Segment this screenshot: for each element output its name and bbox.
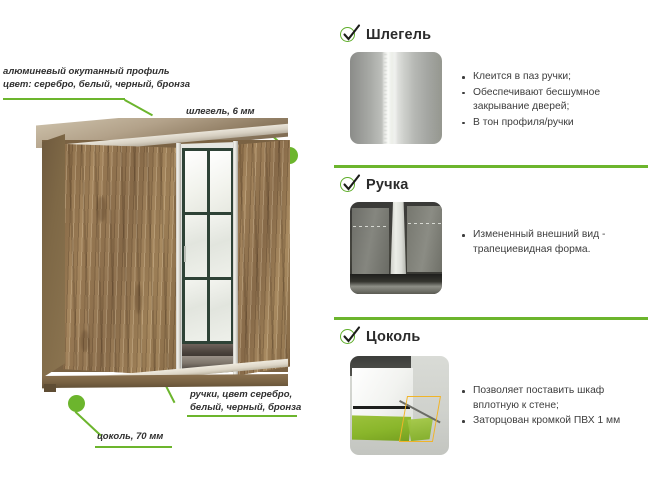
annotation-profile-leader (124, 99, 153, 116)
feature-bullets-shlegel: Клеится в паз ручки; Обеспечивают бесшум… (462, 70, 652, 131)
annotation-plinth-underline (95, 446, 172, 448)
wardrobe-handle-right (233, 141, 238, 376)
feature-panel-shlegel: Шлегель Клеится в паз ручки; Обеспечиваю… (330, 22, 652, 168)
annotation-profile-label: алюминевый окутанный профиль цвет: сереб… (3, 66, 190, 91)
check-circle-icon (340, 177, 357, 194)
list-item: Позволяет поставить шкаф вплотную к стен… (462, 384, 652, 413)
annotation-plinth-line1: цоколь, 70 мм (97, 431, 163, 444)
annotation-profile-line2: цвет: серебро, белый, черный, бронза (3, 79, 190, 92)
annotation-handles-underline (187, 415, 297, 417)
mirror-pane (210, 215, 232, 276)
wardrobe-illustration-pane: алюминевый окутанный профиль цвет: сереб… (0, 0, 330, 500)
annotation-handles-label: ручки, цвет серебро, белый, черный, брон… (190, 389, 301, 414)
annotation-plinth-dot (68, 395, 85, 412)
list-item: Заторцован кромкой ПВХ 1 мм (462, 414, 652, 429)
mirror-door-handle (184, 246, 186, 262)
features-pane: Шлегель Клеится в паз ручки; Обеспечиваю… (330, 0, 652, 500)
annotation-plinth-label: цоколь, 70 мм (97, 431, 163, 444)
feature-heading-shlegel: Шлегель (340, 22, 431, 48)
wardrobe-right-door (234, 140, 290, 376)
list-item: Обеспечивают бесшумное закрывание дверей… (462, 86, 652, 115)
annotation-profile-underline (3, 98, 125, 100)
wardrobe-plinth-foot (44, 384, 56, 392)
list-item: Клеится в паз ручки; (462, 70, 652, 85)
slide-canvas: алюминевый окутанный профиль цвет: сереб… (0, 0, 652, 500)
wardrobe-graphic (36, 118, 288, 390)
check-circle-icon (340, 329, 357, 346)
feature-title: Шлегель (366, 27, 431, 43)
list-item: В тон профиля/ручки (462, 116, 652, 131)
mirror-pane (210, 151, 232, 212)
mirror-panes (182, 148, 234, 344)
feature-title: Цоколь (366, 329, 421, 345)
annotation-shlegel-line1: шлегель, 6 мм (186, 106, 255, 119)
annotation-shlegel-label: шлегель, 6 мм (186, 106, 255, 119)
list-item: Измененный внешний вид - трапециевидная … (462, 228, 652, 257)
mirror-pane (185, 215, 207, 276)
wardrobe-handle-left (176, 143, 181, 377)
feature-panel-ruchka: Ручка Измененный внешний вид - трапециев… (330, 172, 652, 320)
mirror-pane (185, 151, 207, 212)
feature-bullets-cokol: Позволяет поставить шкаф вплотную к стен… (462, 384, 652, 430)
annotation-handles-line1: ручки, цвет серебро, (190, 389, 301, 402)
check-circle-icon (340, 27, 357, 44)
wardrobe-side-panel (42, 134, 65, 378)
wardrobe-mirror-door (179, 142, 237, 376)
mirror-pane (210, 280, 232, 341)
wardrobe-plinth (42, 374, 288, 388)
feature-panel-cokol: Цоколь Позволяет поставить шкаф вплотную… (330, 324, 652, 484)
section-divider (334, 165, 648, 168)
shlegel-photo (350, 52, 442, 144)
annotation-profile-line1: алюминевый окутанный профиль (3, 66, 190, 79)
plinth-photo (350, 356, 449, 455)
mirror-pane (185, 280, 207, 341)
feature-bullets-ruchka: Измененный внешний вид - трапециевидная … (462, 228, 652, 258)
mirror-window-frame (182, 148, 234, 344)
annotation-handles-line2: белый, черный, бронза (190, 402, 301, 415)
handle-photo (350, 202, 442, 294)
section-divider (334, 317, 648, 320)
feature-heading-cokol: Цоколь (340, 324, 421, 350)
feature-title: Ручка (366, 177, 408, 193)
wardrobe-left-door (63, 144, 181, 376)
feature-heading-ruchka: Ручка (340, 172, 408, 198)
